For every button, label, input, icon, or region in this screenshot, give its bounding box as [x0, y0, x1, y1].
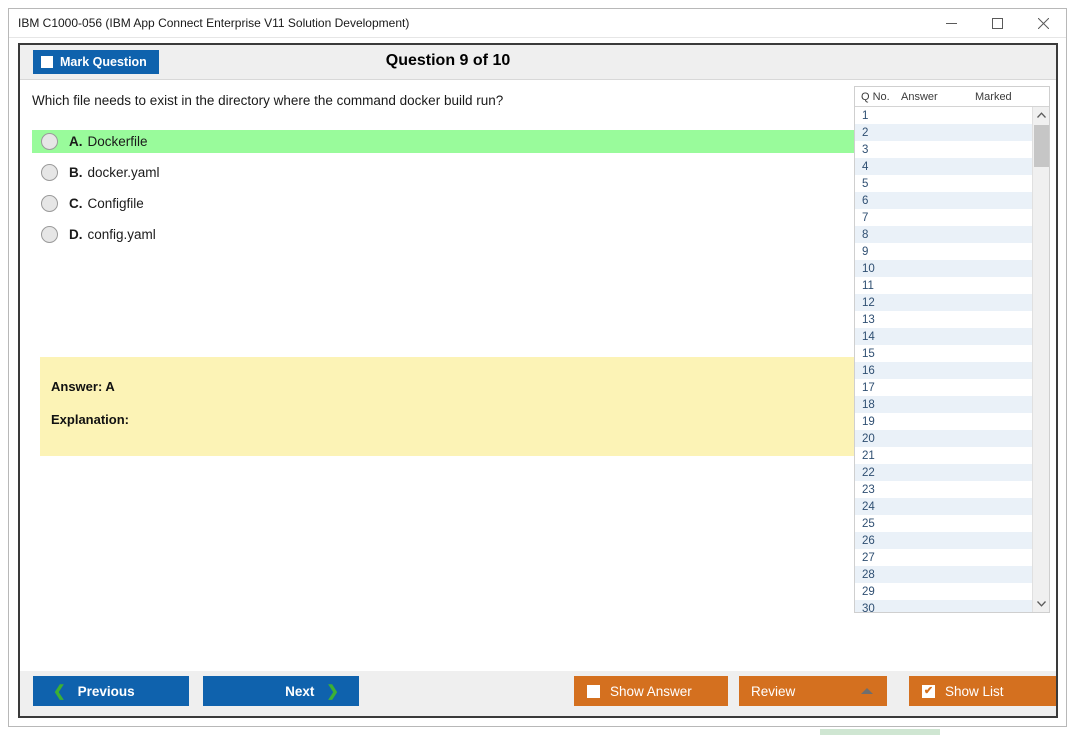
radio-icon-c[interactable] — [41, 195, 58, 212]
column-header-qno: Q No. — [855, 91, 901, 103]
show-answer-button[interactable]: Show Answer — [574, 676, 728, 706]
show-answer-checkbox-icon[interactable] — [587, 685, 600, 698]
cell-qno: 10 — [855, 263, 900, 275]
cell-qno: 4 — [855, 161, 900, 173]
table-row[interactable]: 23 — [855, 481, 1032, 498]
table-row[interactable]: 21 — [855, 447, 1032, 464]
option-letter-c: C. — [69, 196, 83, 211]
question-list-body: 1234567891011121314151617181920212223242… — [855, 107, 1049, 612]
cell-qno: 16 — [855, 365, 900, 377]
table-row[interactable]: 9 — [855, 243, 1032, 260]
cell-qno: 27 — [855, 552, 900, 564]
option-letter-d: D. — [69, 227, 83, 242]
zoom-in-icon[interactable] — [42, 715, 61, 718]
column-header-marked: Marked — [975, 91, 1035, 103]
cell-qno: 7 — [855, 212, 900, 224]
cell-qno: 29 — [855, 586, 900, 598]
table-row[interactable]: 29 — [855, 583, 1032, 600]
cell-qno: 13 — [855, 314, 900, 326]
zoom-reset-icon[interactable] — [74, 715, 93, 718]
column-header-answer: Answer — [901, 91, 975, 103]
question-list-scrollbar[interactable] — [1032, 107, 1049, 612]
option-letter-b: B. — [69, 165, 83, 180]
question-text: Which file needs to exist in the directo… — [32, 93, 503, 108]
show-list-label: Show List — [945, 684, 1004, 699]
cell-qno: 21 — [855, 450, 900, 462]
next-label: Next — [285, 684, 314, 699]
table-row[interactable]: 16 — [855, 362, 1032, 379]
show-answer-label: Show Answer — [610, 684, 692, 699]
review-dropdown-button[interactable]: Review — [739, 676, 887, 706]
option-d[interactable]: D. config.yaml — [32, 223, 860, 246]
table-row[interactable]: 24 — [855, 498, 1032, 515]
option-letter-a: A. — [69, 134, 83, 149]
cell-qno: 15 — [855, 348, 900, 360]
cell-qno: 2 — [855, 127, 900, 139]
radio-icon-a[interactable] — [41, 133, 58, 150]
table-row[interactable]: 15 — [855, 345, 1032, 362]
answer-explanation-panel: Answer: A Explanation: — [40, 357, 870, 456]
cell-qno: 19 — [855, 416, 900, 428]
previous-label: Previous — [78, 684, 135, 699]
answer-label: Answer: A — [51, 379, 870, 394]
table-row[interactable]: 6 — [855, 192, 1032, 209]
exam-frame: Mark Question Question 9 of 10 Which fil… — [18, 43, 1058, 718]
cell-qno: 5 — [855, 178, 900, 190]
table-row[interactable]: 25 — [855, 515, 1032, 532]
window-controls — [928, 9, 1066, 38]
question-area: Which file needs to exist in the directo… — [20, 80, 870, 671]
table-row[interactable]: 2 — [855, 124, 1032, 141]
option-text-c: Configfile — [88, 196, 144, 211]
table-row[interactable]: 3 — [855, 141, 1032, 158]
option-text-b: docker.yaml — [88, 165, 160, 180]
cell-qno: 17 — [855, 382, 900, 394]
table-row[interactable]: 20 — [855, 430, 1032, 447]
option-a[interactable]: A. Dockerfile — [32, 130, 860, 153]
zoom-toolbar — [42, 715, 125, 718]
question-list-panel: Q No. Answer Marked 12345678910111213141… — [854, 86, 1050, 613]
option-text-d: config.yaml — [88, 227, 156, 242]
cell-qno: 12 — [855, 297, 900, 309]
table-row[interactable]: 13 — [855, 311, 1032, 328]
chevron-up-icon-review[interactable] — [861, 688, 873, 694]
cell-qno: 24 — [855, 501, 900, 513]
table-row[interactable]: 4 — [855, 158, 1032, 175]
cell-qno: 20 — [855, 433, 900, 445]
close-icon[interactable] — [1020, 9, 1066, 38]
table-row[interactable]: 18 — [855, 396, 1032, 413]
cell-qno: 6 — [855, 195, 900, 207]
explanation-label: Explanation: — [51, 412, 870, 427]
window-frame: IBM C1000-056 (IBM App Connect Enterpris… — [8, 8, 1067, 727]
show-list-checkbox-icon[interactable]: ✔ — [922, 685, 935, 698]
cell-qno: 22 — [855, 467, 900, 479]
table-row[interactable]: 26 — [855, 532, 1032, 549]
zoom-out-icon[interactable] — [106, 715, 125, 718]
cell-qno: 14 — [855, 331, 900, 343]
cell-qno: 28 — [855, 569, 900, 581]
cell-qno: 11 — [855, 280, 900, 292]
option-c[interactable]: C. Configfile — [32, 192, 860, 215]
table-row[interactable]: 8 — [855, 226, 1032, 243]
option-b[interactable]: B. docker.yaml — [32, 161, 860, 184]
exam-app-window: IBM C1000-056 (IBM App Connect Enterpris… — [0, 0, 1075, 735]
table-row[interactable]: 28 — [855, 566, 1032, 583]
exam-header: Mark Question Question 9 of 10 — [20, 45, 1056, 80]
table-row[interactable]: 22 — [855, 464, 1032, 481]
cell-qno: 9 — [855, 246, 900, 258]
cell-qno: 8 — [855, 229, 900, 241]
cell-qno: 3 — [855, 144, 900, 156]
exam-footer: ❮ Previous Next ❯ Show Answer Review ✔ — [20, 671, 1056, 718]
answer-options: A. Dockerfile B. docker.yaml C. Configfi… — [32, 130, 860, 254]
option-text-a: Dockerfile — [88, 134, 148, 149]
minimize-icon[interactable] — [928, 9, 974, 38]
taskbar-sliver — [820, 729, 940, 735]
maximize-icon[interactable] — [974, 9, 1020, 38]
scrollbar-thumb[interactable] — [1034, 125, 1049, 167]
table-row[interactable]: 1 — [855, 107, 1032, 124]
cell-qno: 30 — [855, 603, 900, 613]
title-bar: IBM C1000-056 (IBM App Connect Enterpris… — [9, 9, 1066, 38]
cell-qno: 25 — [855, 518, 900, 530]
chevron-right-icon: ❯ — [326, 682, 339, 700]
cell-qno: 18 — [855, 399, 900, 411]
chevron-up-icon[interactable] — [1033, 107, 1049, 124]
table-row[interactable]: 12 — [855, 294, 1032, 311]
previous-button[interactable]: ❮ Previous — [33, 676, 189, 706]
table-row[interactable]: 30 — [855, 600, 1032, 612]
question-rows: 1234567891011121314151617181920212223242… — [855, 107, 1032, 612]
table-row[interactable]: 19 — [855, 413, 1032, 430]
chevron-left-icon: ❮ — [53, 682, 66, 700]
cell-qno: 26 — [855, 535, 900, 547]
table-row[interactable]: 11 — [855, 277, 1032, 294]
table-row[interactable]: 10 — [855, 260, 1032, 277]
question-counter: Question 9 of 10 — [20, 52, 1056, 70]
exam-content: Which file needs to exist in the directo… — [20, 80, 1056, 671]
window-title: IBM C1000-056 (IBM App Connect Enterpris… — [9, 16, 409, 30]
next-button[interactable]: Next ❯ — [203, 676, 359, 706]
radio-icon-d[interactable] — [41, 226, 58, 243]
table-row[interactable]: 14 — [855, 328, 1032, 345]
table-row[interactable]: 27 — [855, 549, 1032, 566]
review-label: Review — [751, 684, 795, 699]
show-list-button[interactable]: ✔ Show List — [909, 676, 1058, 706]
cell-qno: 23 — [855, 484, 900, 496]
question-list-header: Q No. Answer Marked — [855, 87, 1049, 107]
table-row[interactable]: 5 — [855, 175, 1032, 192]
cell-qno: 1 — [855, 110, 900, 122]
radio-icon-b[interactable] — [41, 164, 58, 181]
table-row[interactable]: 7 — [855, 209, 1032, 226]
table-row[interactable]: 17 — [855, 379, 1032, 396]
chevron-down-icon[interactable] — [1033, 595, 1049, 612]
